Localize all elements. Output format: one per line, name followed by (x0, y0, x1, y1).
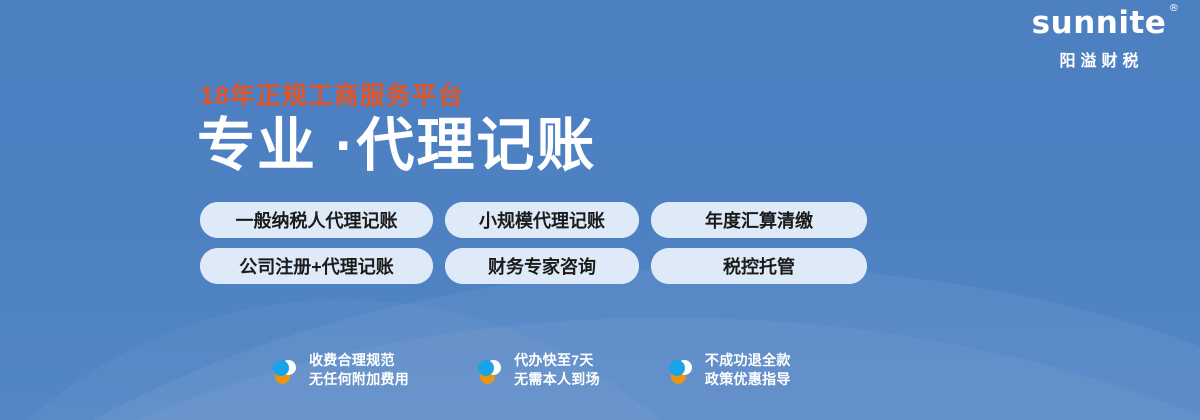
feature-line-2: 无任何附加费用 (309, 370, 409, 389)
feature-line-1: 代办快至7天 (514, 351, 600, 370)
hero-headline: 专业 ·代理记账 (197, 113, 596, 180)
feature-line-2: 无需本人到场 (514, 370, 600, 389)
feature-line-1: 不成功退全款 (705, 351, 791, 370)
brand-logo-wordmark: sunnite® (1032, 8, 1167, 39)
feature-item-speed: 代办快至7天 无需本人到场 (477, 351, 600, 389)
brand-logo[interactable]: sunnite® 阳溢财税 (1014, 8, 1184, 71)
promo-banner: sunnite® 阳溢财税 18年正规工商服务平台 专业 ·代理记账 一般纳税人… (0, 0, 1200, 420)
feature-list: 收费合理规范 无任何附加费用 代办快至7天 无需本人到场 不成功退全款 (272, 351, 791, 389)
half-moon-icon (477, 356, 503, 384)
feature-line-2: 政策优惠指导 (705, 370, 791, 389)
feature-item-text: 不成功退全款 政策优惠指导 (705, 351, 791, 389)
feature-item-pricing: 收费合理规范 无任何附加费用 (272, 351, 409, 389)
feature-item-text: 代办快至7天 无需本人到场 (514, 351, 600, 389)
service-pill-group: 一般纳税人代理记账 小规模代理记账 年度汇算清缴 公司注册+代理记账 财务专家咨… (200, 202, 867, 294)
half-moon-icon (668, 356, 694, 384)
service-pill-general-taxpayer-bookkeeping[interactable]: 一般纳税人代理记账 (200, 202, 433, 238)
half-moon-icon-cyan-circle (669, 360, 685, 376)
registered-trademark-icon: ® (1169, 4, 1180, 14)
half-moon-icon-cyan-circle (273, 360, 289, 376)
service-pill-row-1: 一般纳税人代理记账 小规模代理记账 年度汇算清缴 (200, 202, 867, 238)
brand-logo-chinese-name: 阳溢财税 (1014, 47, 1184, 71)
service-pill-annual-settlement[interactable]: 年度汇算清缴 (651, 202, 867, 238)
hero-tagline: 18年正规工商服务平台 (200, 76, 464, 112)
feature-item-text: 收费合理规范 无任何附加费用 (309, 351, 409, 389)
half-moon-icon (272, 356, 298, 384)
service-pill-tax-control-hosting[interactable]: 税控托管 (651, 248, 867, 284)
half-moon-icon-cyan-circle (478, 360, 494, 376)
service-pill-company-registration-bookkeeping[interactable]: 公司注册+代理记账 (200, 248, 433, 284)
service-pill-row-2: 公司注册+代理记账 财务专家咨询 税控托管 (200, 248, 867, 284)
feature-item-guarantee: 不成功退全款 政策优惠指导 (668, 351, 791, 389)
service-pill-small-scale-bookkeeping[interactable]: 小规模代理记账 (445, 202, 639, 238)
feature-line-1: 收费合理规范 (309, 351, 409, 370)
service-pill-finance-expert-consulting[interactable]: 财务专家咨询 (445, 248, 639, 284)
